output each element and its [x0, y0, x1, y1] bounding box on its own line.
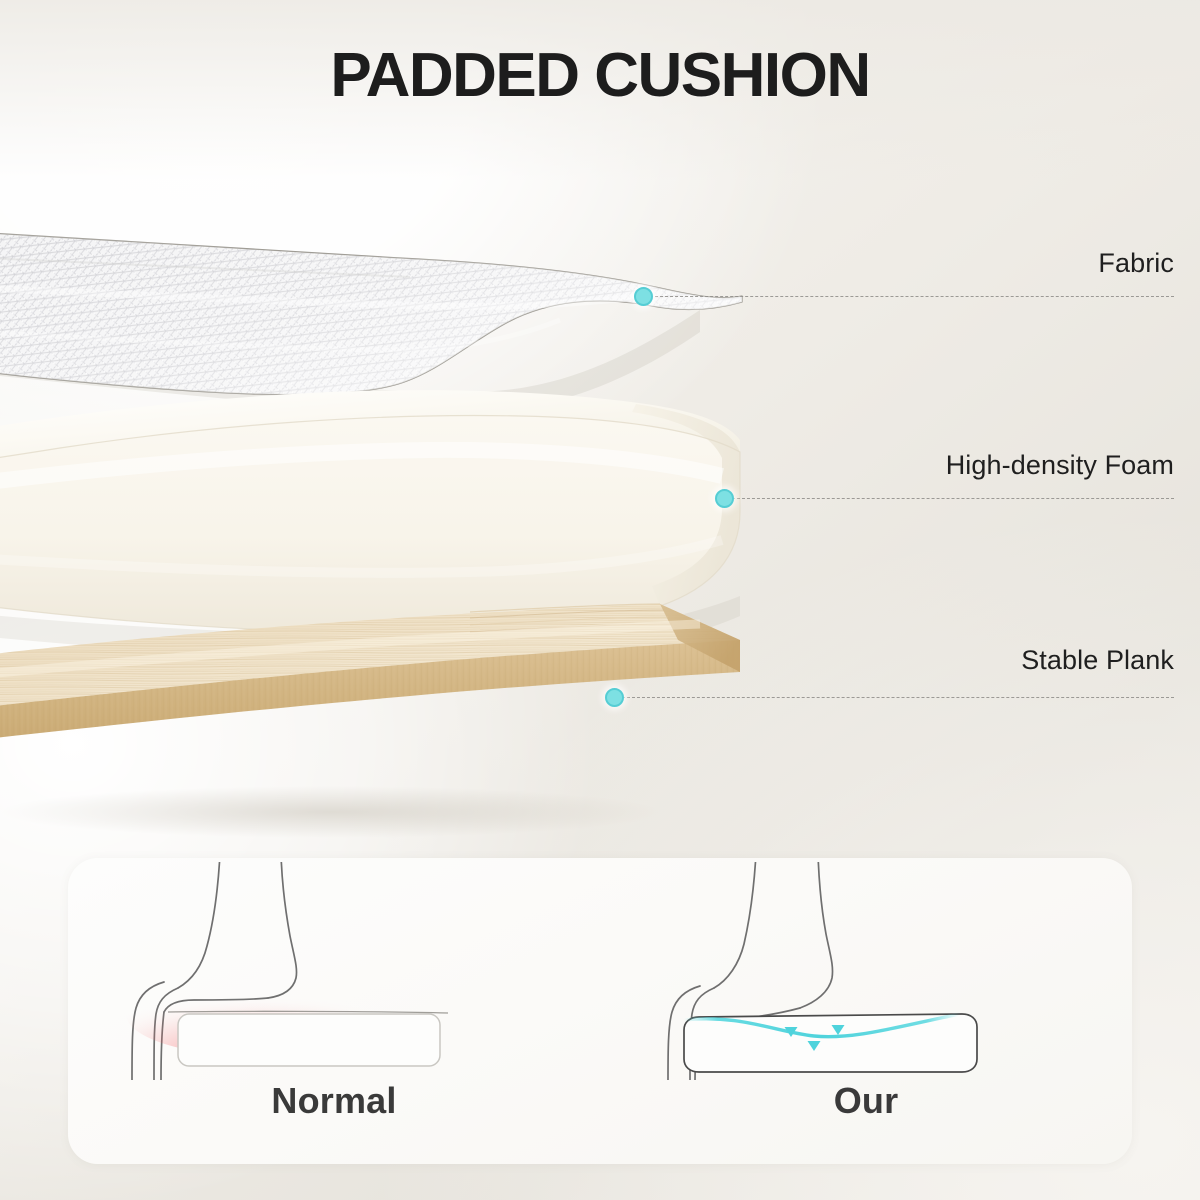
plank-shadow: [0, 786, 660, 838]
flat-hard-seat: [178, 1014, 440, 1066]
callout-foam-label: High-density Foam: [946, 450, 1174, 481]
callout-high-density-foam: High-density Foam: [710, 450, 1200, 520]
normal-seating-diagram: [68, 862, 600, 1080]
callout-plank-leader-line: [622, 697, 1174, 698]
contoured-cushion: [684, 1014, 977, 1072]
comparison-panel-our: Our: [600, 858, 1132, 1164]
callout-stable-plank: Stable Plank: [600, 645, 1200, 715]
panel-label-our: Our: [600, 1080, 1132, 1122]
callout-foam-leader-line: [732, 498, 1174, 499]
our-seating-diagram: [600, 862, 1132, 1080]
callout-fabric-label: Fabric: [1098, 248, 1174, 279]
callout-fabric-dot-icon: [634, 287, 653, 306]
comparison-card: Normal: [68, 858, 1132, 1164]
callout-foam-dot-icon: [715, 489, 734, 508]
exploded-product-stack: [0, 0, 1200, 860]
callout-fabric: Fabric: [630, 248, 1200, 318]
callout-plank-label: Stable Plank: [1021, 645, 1174, 676]
callout-plank-dot-icon: [605, 688, 624, 707]
callout-fabric-leader-line: [650, 296, 1174, 297]
panel-label-normal: Normal: [68, 1080, 600, 1122]
comparison-panel-normal: Normal: [68, 858, 600, 1164]
